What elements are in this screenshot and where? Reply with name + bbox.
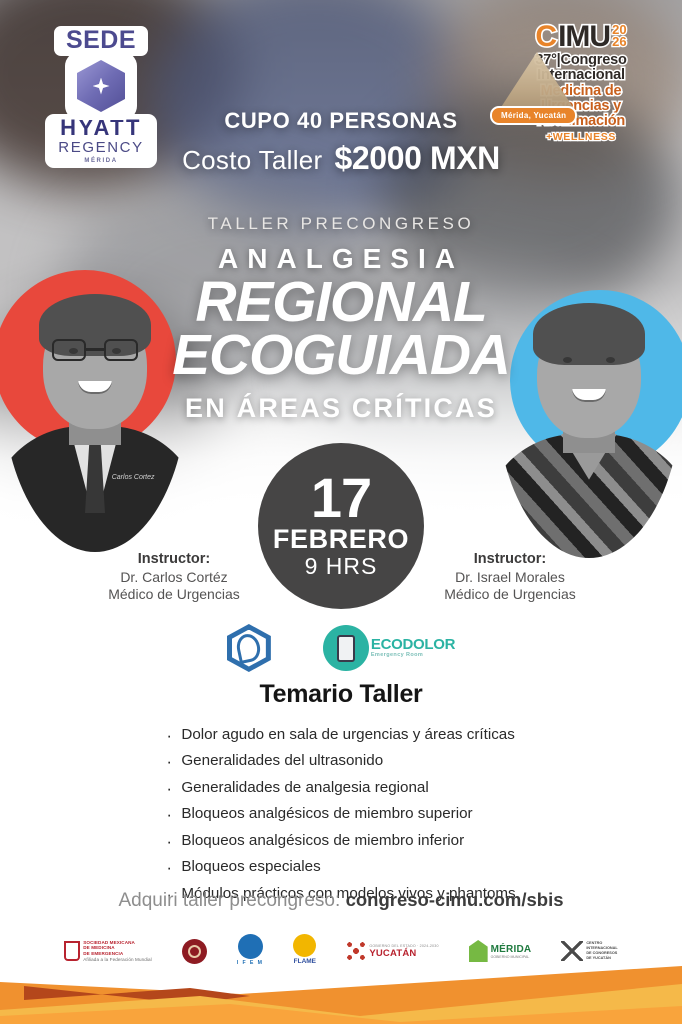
- venue-city: MÉRIDA: [53, 158, 149, 164]
- cta-url[interactable]: congreso-cimu.com/sbis: [346, 889, 564, 910]
- date-time: 9 HRS: [305, 554, 378, 579]
- ecodolor-icon: [323, 625, 369, 671]
- agenda-list: Dolor agudo en sala de urgencias y áreas…: [166, 722, 515, 907]
- partner-logos: ECODOLOR Emergency Room: [0, 624, 682, 672]
- list-item: Bloqueos analgésicos de miembro inferior: [166, 828, 515, 854]
- poster-root: SEDE HYATT REGENCY MÉRIDA Mérida, Yucatá…: [0, 0, 682, 1024]
- ecodolor-logo: ECODOLOR Emergency Room: [323, 625, 455, 671]
- hexagon-diamond-icon: [65, 52, 137, 120]
- instructor-1-role-label: Instructor:: [74, 550, 274, 569]
- bottom-wave-decoration: [0, 960, 682, 1024]
- instructor-1-name: Dr. Carlos Cortéz: [74, 569, 274, 587]
- cta-line: Adquiri taller precongreso: congreso-cim…: [0, 889, 682, 912]
- list-item: Dolor agudo en sala de urgencias y áreas…: [166, 722, 515, 748]
- instructor-2-name: Dr. Israel Morales: [410, 569, 610, 587]
- title-regional: REGIONAL: [0, 275, 682, 330]
- congress-line-2: Internacional: [488, 68, 674, 83]
- venue-brand-line1: HYATT: [53, 117, 149, 139]
- congress-year: 20 26: [612, 24, 626, 48]
- title-areas: EN ÁREAS CRÍTICAS: [0, 393, 682, 424]
- instructor-2-specialty: Médico de Urgencias: [410, 586, 610, 604]
- agenda-section: Temario Taller Dolor agudo en sala de ur…: [0, 680, 682, 907]
- pretitle: TALLER PRECONGRESO: [0, 214, 682, 234]
- congress-year-bottom: 26: [612, 36, 626, 48]
- congress-wellness: +WELLNESS: [488, 131, 674, 143]
- date-month: FEBRERO: [273, 525, 409, 553]
- yucatan-sublabel: GOBIERNO DEL ESTADO · 2024-2030: [369, 944, 438, 948]
- list-item: Bloqueos analgésicos de miembro superior: [166, 801, 515, 827]
- date-day: 17: [311, 472, 371, 524]
- list-item: Generalidades de analgesia regional: [166, 775, 515, 801]
- yucatan-label: YUCATÁN: [369, 948, 438, 959]
- venue-logo: SEDE HYATT REGENCY MÉRIDA: [42, 26, 160, 168]
- cost-value: $2000 MXN: [335, 140, 500, 177]
- ultrasound-hexagon-logo: [227, 624, 271, 672]
- jacket-embroidery: Carlos Cortez: [112, 474, 155, 481]
- list-item: Bloqueos especiales: [166, 854, 515, 880]
- list-item: Generalidades del ultrasonido: [166, 748, 515, 774]
- title-ecoguiada: ECOGUIADA: [0, 328, 682, 383]
- congress-location-pill: Mérida, Yucatán: [490, 106, 577, 125]
- instructor-2-info: Instructor: Dr. Israel Morales Médico de…: [410, 550, 610, 604]
- instructor-2-role-label: Instructor:: [410, 550, 610, 569]
- venue-brand: HYATT REGENCY MÉRIDA: [45, 114, 157, 168]
- instructor-1-info: Instructor: Dr. Carlos Cortéz Médico de …: [74, 550, 274, 604]
- congress-logo: Mérida, Yucatán C IMU 20 26 37°|Congreso…: [488, 22, 674, 143]
- merida-sublabel: GOBIERNO MUNICIPAL: [491, 955, 532, 959]
- title-block: TALLER PRECONGRESO ANALGESIA REGIONAL EC…: [0, 214, 682, 424]
- agenda-heading: Temario Taller: [0, 680, 682, 709]
- date-badge: 17 FEBRERO 9 HRS: [258, 443, 424, 609]
- ecodolor-label: ECODOLOR: [371, 638, 455, 652]
- ecodolor-sublabel: Emergency Room: [371, 653, 455, 658]
- congress-brand-imu: IMU: [558, 22, 610, 52]
- cost-label: Costo Taller: [182, 145, 322, 176]
- congress-brand-c: C: [535, 22, 556, 52]
- cta-prefix: Adquiri taller precongreso:: [118, 890, 340, 911]
- congress-brand: C IMU 20 26: [488, 22, 674, 52]
- instructor-1-specialty: Médico de Urgencias: [74, 586, 274, 604]
- merida-label: MÉRIDA: [491, 944, 532, 955]
- venue-brand-line2: REGENCY: [53, 139, 149, 156]
